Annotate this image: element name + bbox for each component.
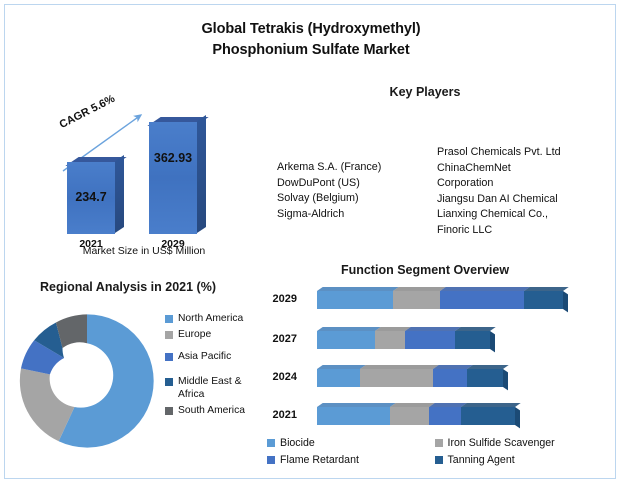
segment-flame-retardant[interactable] [429,407,461,425]
segment-row-2024: 2024 [255,365,615,389]
donut-svg [13,305,161,457]
segment-top-face [317,365,366,369]
legend-label: Iron Sulfide Scavenger [448,437,555,449]
legend-swatch-tanning-agent [435,456,443,464]
key-player-item: Corporation [437,176,612,192]
segment-flame-retardant[interactable] [440,291,524,309]
legend-swatch-asia-pacific [165,353,173,361]
infographic-frame: Global Tetrakis (Hydroxymethyl) Phosphon… [4,4,616,479]
segment-row-label: 2021 [255,403,297,427]
legend-label: Biocide [280,437,315,449]
legend-label: South America [178,404,245,417]
function-segment-chart: 2029 2027 [255,285,615,435]
segment-top-face [317,287,399,291]
regional-donut-chart [13,305,161,465]
legend-label: Flame Retardant [280,454,359,466]
key-player-item: Sigma-Aldrich [277,207,432,223]
key-player-item: Solvay (Belgium) [277,191,432,207]
segment-end-face [490,331,495,352]
bar-2029-side-face [197,115,206,233]
legend-swatch-flame-retardant [267,456,275,464]
segment-top-face [317,327,381,331]
legend-swatch-north-america [165,315,173,323]
bar-2021-value: 234.7 [67,190,115,204]
segment-end-face [563,291,568,312]
key-player-item: Finoric LLC [437,223,612,239]
segment-row-2021: 2021 [255,403,615,427]
key-player-item: Arkema S.A. (France) [277,160,432,176]
segment-row-label: 2029 [255,287,297,311]
legend-swatch-europe [165,331,173,339]
legend-label: Europe [178,328,211,341]
segment-bar-2027 [317,327,567,351]
key-player-item: DowDuPont (US) [277,176,432,192]
regional-analysis-heading: Regional Analysis in 2021 (%) [13,280,243,294]
segment-row-label: 2024 [255,365,297,389]
segment-bar-2029 [317,287,567,311]
key-player-item: Jiangsu Dan AI Chemical [437,192,612,208]
function-segment-heading: Function Segment Overview [255,263,595,277]
segment-tanning-agent[interactable] [455,331,490,349]
key-players-column-left: Arkema S.A. (France) DowDuPont (US) Solv… [277,160,432,222]
segment-row-2029: 2029 [255,287,615,311]
legend-item-europe[interactable]: Europe [165,328,250,341]
segment-top-face [524,287,569,291]
legend-item-flame-retardant[interactable]: Flame Retardant [267,454,435,466]
legend-item-south-america[interactable]: South America [165,404,250,417]
legend-item-asia-pacific[interactable]: Asia Pacific [165,350,250,363]
key-players-column-right: Prasol Chemicals Pvt. Ltd ChinaChemNet C… [437,145,612,238]
cagr-annotation: CAGR 5.6% [58,93,117,131]
legend-item-tanning-agent[interactable]: Tanning Agent [435,454,603,466]
segment-top-face [405,327,461,331]
legend-label: Middle East & Africa [178,375,250,401]
segment-iron-sulfide-scavenger[interactable] [360,369,433,387]
legend-item-iron-sulfide-scavenger[interactable]: Iron Sulfide Scavenger [435,437,603,449]
segment-top-face [317,403,396,407]
regional-legend: North America Europe Asia Pacific Middle… [165,312,250,420]
segment-biocide[interactable] [317,291,393,309]
legend-swatch-middle-east-africa [165,378,173,386]
market-size-caption: Market Size in US$ Million [19,245,269,257]
segment-flame-retardant[interactable] [433,369,467,387]
segment-tanning-agent[interactable] [467,369,503,387]
segment-top-face [393,287,446,291]
segment-tanning-agent[interactable] [461,407,515,425]
legend-label: North America [178,312,243,325]
bar-2029 [149,122,197,234]
function-segment-legend: Biocide Iron Sulfide Scavenger Flame Ret… [267,437,602,471]
segment-biocide[interactable] [317,407,390,425]
page-title-line2: Phosphonium Sulfate Market [5,40,617,61]
segment-flame-retardant[interactable] [405,331,455,349]
segment-bar-2021 [317,403,567,427]
legend-swatch-iron-sulfide-scavenger [435,439,443,447]
segment-biocide[interactable] [317,331,375,349]
key-player-item: ChinaChemNet [437,161,612,177]
segment-top-face [360,365,439,369]
segment-top-face [440,287,530,291]
segment-end-face [515,407,520,428]
legend-item-north-america[interactable]: North America [165,312,250,325]
legend-label: Asia Pacific [178,350,231,363]
bar-2029-front-face [149,122,197,234]
key-player-item: Lianxing Chemical Co., [437,207,612,223]
segment-row-2027: 2027 [255,327,615,351]
segment-bar-2024 [317,365,567,389]
segment-iron-sulfide-scavenger[interactable] [393,291,440,309]
legend-item-middle-east-africa[interactable]: Middle East & Africa [165,375,250,401]
segment-row-label: 2027 [255,327,297,351]
segment-iron-sulfide-scavenger[interactable] [390,407,429,425]
segment-tanning-agent[interactable] [524,291,563,309]
legend-item-biocide[interactable]: Biocide [267,437,435,449]
key-players-heading: Key Players [335,85,515,99]
legend-swatch-south-america [165,407,173,415]
bar-2029-value: 362.93 [147,151,199,165]
legend-label: Tanning Agent [448,454,515,466]
legend-swatch-biocide [267,439,275,447]
segment-biocide[interactable] [317,369,360,387]
key-player-item: Prasol Chemicals Pvt. Ltd [437,145,612,161]
segment-top-face [461,403,521,407]
page-title-line1: Global Tetrakis (Hydroxymethyl) [5,19,617,40]
bar-2021-side-face [115,155,124,233]
page-title: Global Tetrakis (Hydroxymethyl) Phosphon… [5,19,617,61]
segment-iron-sulfide-scavenger[interactable] [375,331,405,349]
market-size-chart: CAGR 5.6% 234.7 362.93 2021 2029 Market … [19,95,269,260]
segment-end-face [503,369,508,390]
